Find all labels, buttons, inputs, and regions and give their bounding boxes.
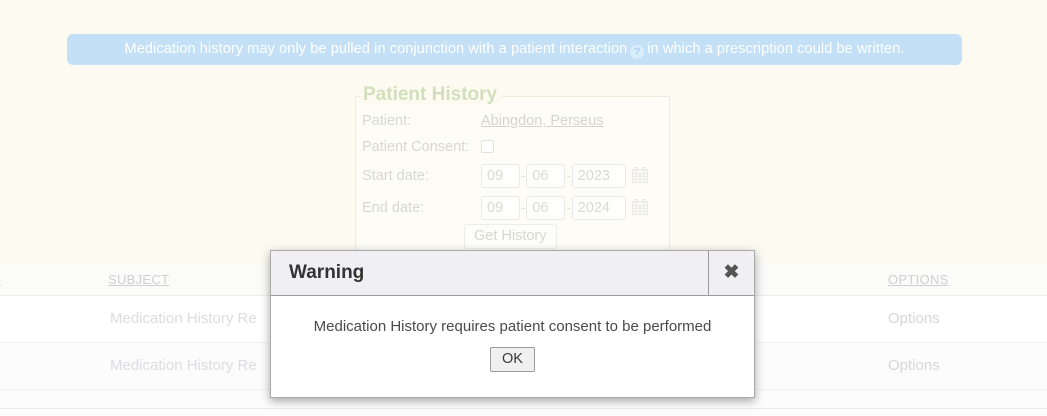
column-header-subject[interactable]: SUBJECT	[108, 272, 169, 287]
row-options-link[interactable]: Options	[888, 357, 940, 374]
start-date-year-input[interactable]: 2023	[572, 164, 626, 188]
end-date-year-input[interactable]: 2024	[572, 196, 626, 220]
patient-label: Patient:	[356, 108, 481, 134]
submit-row: Get History	[356, 224, 669, 249]
close-icon[interactable]: ✖	[708, 251, 754, 295]
end-date-day-input[interactable]: 06	[526, 196, 565, 220]
start-date-month-input[interactable]: 09	[481, 164, 520, 188]
get-history-button[interactable]: Get History	[464, 224, 557, 249]
modal-header: Warning ✖	[271, 251, 754, 296]
start-date-cell: 09-06-2023	[481, 160, 669, 192]
patient-consent-row: Patient Consent:	[356, 134, 669, 160]
patient-value-cell: Abingdon, Perseus	[481, 108, 669, 134]
row-options-link[interactable]: Options	[888, 310, 940, 327]
patient-row: Patient: Abingdon, Perseus	[356, 108, 669, 134]
end-date-sep-2: -	[565, 200, 571, 215]
patient-consent-label: Patient Consent:	[356, 134, 481, 160]
alert-text-before: Medication history may only be pulled in…	[125, 41, 628, 57]
patient-history-form: Patient: Abingdon, Perseus Patient Conse…	[356, 108, 669, 249]
end-date-label: End date:	[356, 192, 481, 224]
column-header-date[interactable]: E	[0, 272, 1, 287]
pane-divider	[0, 408, 1047, 409]
end-date-row: End date: 09-06-2024	[356, 192, 669, 224]
patient-history-legend: Patient History	[361, 84, 502, 106]
modal-body: Medication History requires patient cons…	[271, 296, 754, 372]
ok-button[interactable]: OK	[490, 347, 535, 372]
warning-modal: Warning ✖ Medication History requires pa…	[270, 250, 755, 398]
row-subject: Medication History Re	[110, 357, 257, 374]
submit-cell: Get History	[356, 224, 669, 249]
page-root: Medication history may only be pulled in…	[0, 0, 1047, 416]
start-date-day-input[interactable]: 06	[526, 164, 565, 188]
alert-text-after: in which a prescription could be written…	[647, 41, 904, 57]
modal-message: Medication History requires patient cons…	[271, 318, 754, 335]
column-header-options[interactable]: OPTIONS	[888, 272, 949, 287]
help-circle-icon[interactable]: ?	[630, 45, 644, 59]
start-date-label: Start date:	[356, 160, 481, 192]
modal-title: Warning	[271, 262, 364, 284]
calendar-icon[interactable]	[632, 167, 648, 183]
patient-name-link[interactable]: Abingdon, Perseus	[481, 113, 604, 129]
end-date-month-input[interactable]: 09	[481, 196, 520, 220]
start-date-row: Start date: 09-06-2023	[356, 160, 669, 192]
row-subject: Medication History Re	[110, 310, 257, 327]
end-date-cell: 09-06-2024	[481, 192, 669, 224]
patient-consent-checkbox[interactable]	[481, 140, 494, 153]
medication-history-alert-banner: Medication history may only be pulled in…	[67, 34, 962, 65]
patient-consent-cell	[481, 134, 669, 160]
start-date-sep-2: -	[565, 168, 571, 183]
calendar-icon[interactable]	[632, 199, 648, 215]
